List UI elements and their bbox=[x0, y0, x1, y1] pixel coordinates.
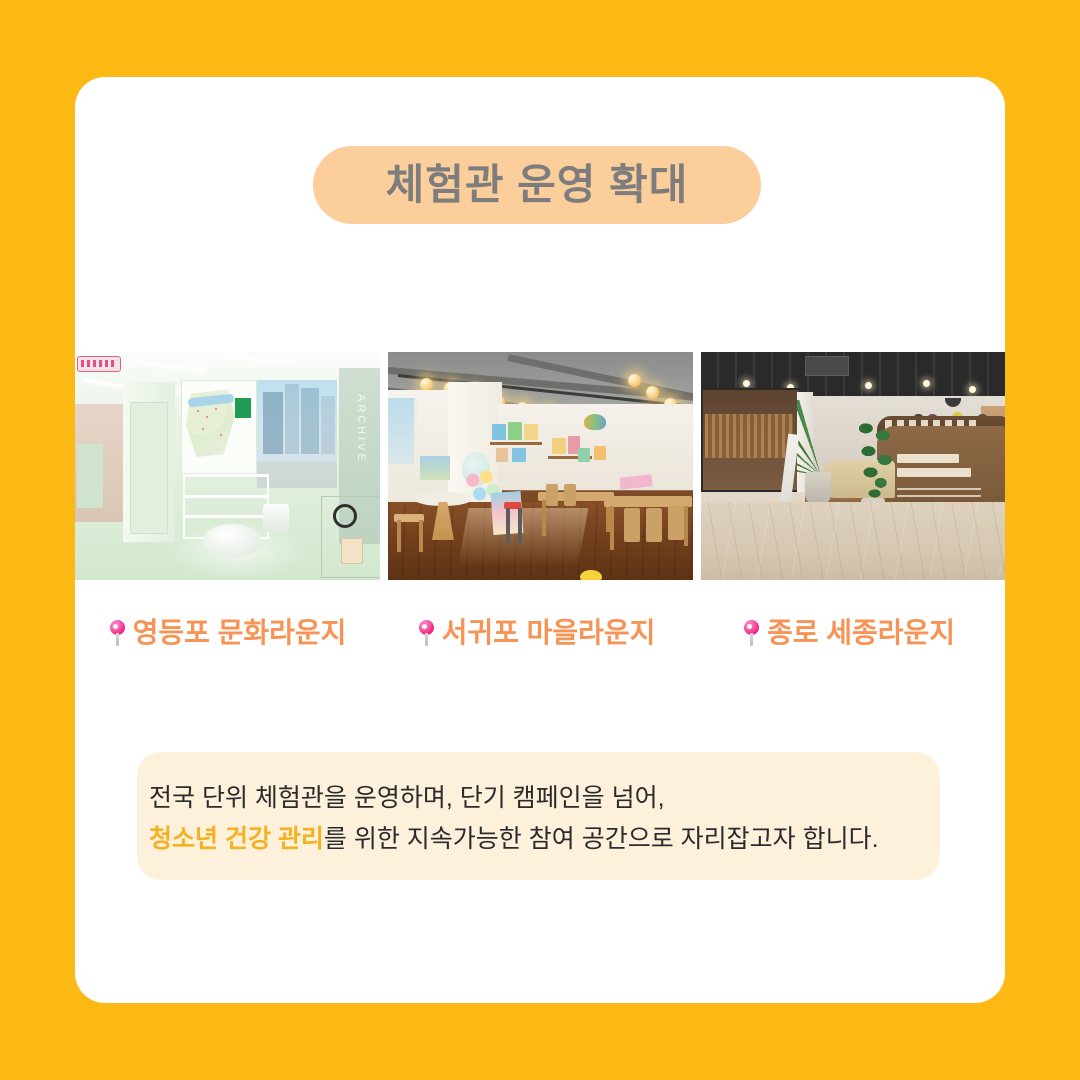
photo2-stained-lamp bbox=[584, 414, 606, 430]
photo1-building bbox=[301, 388, 319, 454]
photo3-wood-floor bbox=[701, 502, 1005, 580]
photo2-stool-leg bbox=[506, 508, 510, 544]
photo1-speaker bbox=[333, 504, 357, 528]
photo2-stool-leg bbox=[397, 520, 401, 552]
photo1-map-dot bbox=[197, 410, 199, 412]
photo1-round-ottoman bbox=[203, 524, 261, 558]
photo3-downlight bbox=[743, 380, 750, 387]
location-pin-icon bbox=[418, 620, 435, 646]
photo2-framed-painting bbox=[420, 456, 450, 480]
photo1-map-dot bbox=[220, 434, 222, 436]
photo1-map-dot bbox=[215, 408, 217, 410]
gallery-photo-seogwipo[interactable] bbox=[388, 352, 693, 580]
photo2-artwork bbox=[578, 448, 590, 462]
photo1-map-dot bbox=[206, 416, 208, 418]
photo3-planter bbox=[805, 472, 831, 506]
photo1-cube-seat bbox=[263, 504, 289, 532]
photo2-bulb bbox=[646, 386, 659, 399]
photo2-artwork bbox=[496, 448, 508, 462]
photo2-yellow-object bbox=[580, 570, 602, 580]
photo2-table-leg bbox=[542, 500, 546, 536]
gallery-photo-yeongdeungpo[interactable]: ARCHIVE bbox=[75, 352, 380, 580]
photo2-artwork bbox=[524, 424, 538, 440]
page-title-pill: 체험관 운영 확대 bbox=[313, 146, 761, 224]
photo1-left-door bbox=[77, 444, 103, 508]
note-line-2-rest: 를 위한 지속가능한 참여 공간으로 자리잡고자 합니다. bbox=[324, 825, 879, 853]
photo1-building bbox=[263, 392, 283, 454]
photo2-artwork bbox=[508, 422, 522, 440]
photo1-archive-label: ARCHIVE bbox=[355, 394, 367, 464]
photo3-palm-plant bbox=[797, 400, 845, 476]
photo3-downlight bbox=[865, 382, 872, 389]
photo2-chair bbox=[624, 508, 640, 542]
photo2-chair bbox=[546, 484, 558, 506]
photo2-table-leg bbox=[610, 506, 614, 550]
photo-gallery: ARCHIVE bbox=[75, 352, 1005, 580]
photo2-shelf bbox=[490, 442, 542, 445]
caption-label: 종로 세종라운지 bbox=[767, 619, 955, 647]
photo1-building bbox=[285, 384, 299, 454]
caption-item: 서귀포 마을라운지 bbox=[380, 605, 693, 661]
photo3-air-vent bbox=[805, 356, 849, 376]
poster-canvas: 체험관 운영 확대 bbox=[0, 0, 1080, 1080]
photo3-store-shelving bbox=[705, 414, 793, 458]
photo1-building bbox=[321, 396, 335, 454]
photo2-window bbox=[388, 398, 417, 464]
location-pin-icon bbox=[743, 620, 760, 646]
photo1-green-sign bbox=[235, 398, 251, 418]
photo2-stool-leg bbox=[419, 520, 423, 552]
note-highlight: 청소년 건강 관리 bbox=[149, 825, 324, 853]
caption-item: 영등포 문화라운지 bbox=[75, 605, 380, 661]
caption-label: 서귀포 마을라운지 bbox=[442, 619, 656, 647]
photo2-bulb bbox=[628, 374, 641, 387]
note-line-1: 전국 단위 체험관을 운영하며, 단기 캠페인을 넘어, bbox=[149, 778, 940, 819]
page-title: 체험관 운영 확대 bbox=[386, 164, 689, 206]
photo2-artwork bbox=[492, 424, 506, 440]
caption-item: 종로 세종라운지 bbox=[693, 605, 1005, 661]
summary-note-box: 전국 단위 체험관을 운영하며, 단기 캠페인을 넘어, 청소년 건강 관리를 … bbox=[137, 752, 940, 880]
photo1-street bbox=[257, 462, 337, 488]
photo1-watermark-logo bbox=[77, 356, 121, 372]
photo2-artwork bbox=[552, 438, 566, 454]
photo2-chair bbox=[564, 484, 576, 506]
photo2-artwork bbox=[512, 448, 526, 462]
photo3-downlight bbox=[923, 380, 930, 387]
photo1-map-dot bbox=[202, 428, 204, 430]
photo1-book bbox=[341, 538, 363, 564]
photo2-table-leg bbox=[684, 506, 688, 546]
photo3-downlight bbox=[969, 386, 976, 393]
content-card: 체험관 운영 확대 bbox=[75, 77, 1005, 1003]
gallery-photo-jongno[interactable] bbox=[701, 352, 1005, 580]
location-pin-icon bbox=[109, 620, 126, 646]
photo3-panel-headline bbox=[897, 468, 971, 477]
photo3-panel-headline bbox=[897, 454, 959, 463]
photo1-door-frame bbox=[130, 402, 168, 534]
photo2-artwork bbox=[594, 446, 606, 460]
photo2-stool-leg bbox=[518, 508, 522, 544]
gallery-captions: 영등포 문화라운지 서귀포 마을라운지 종로 세종라운지 bbox=[75, 605, 1005, 661]
caption-label: 영등포 문화라운지 bbox=[133, 619, 347, 647]
note-line-2: 청소년 건강 관리를 위한 지속가능한 참여 공간으로 자리잡고자 합니다. bbox=[149, 819, 940, 860]
photo2-chair bbox=[668, 506, 684, 540]
photo3-ficus-plant bbox=[859, 416, 893, 504]
photo2-chair bbox=[646, 508, 662, 542]
